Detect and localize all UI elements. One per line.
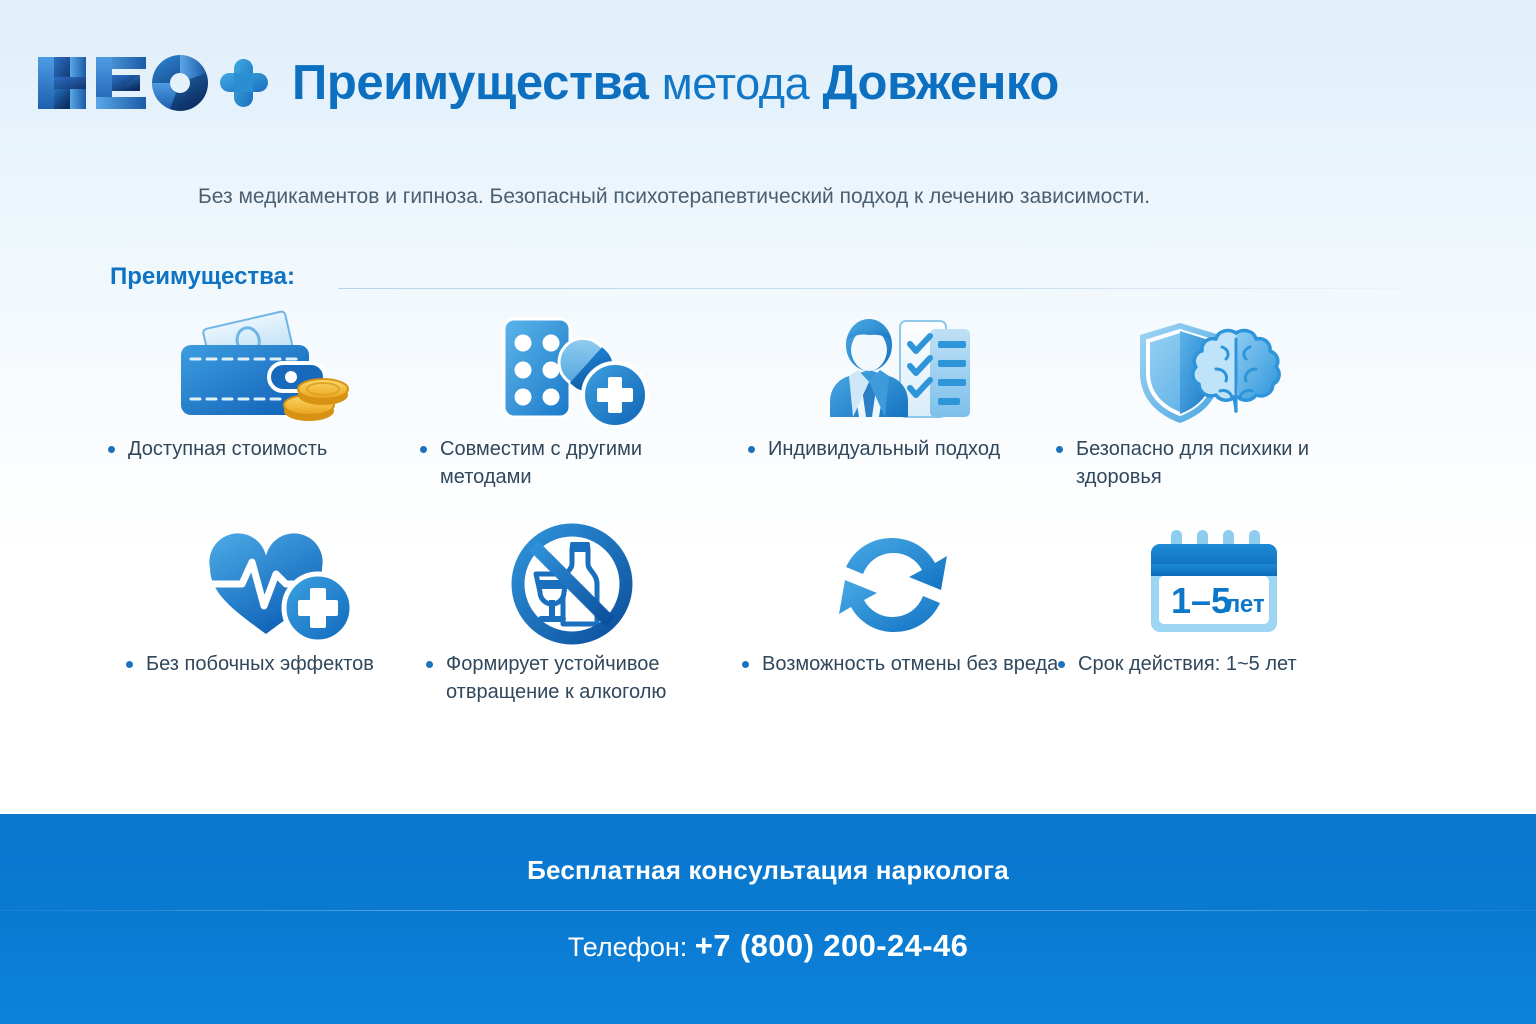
benefit-item-individual-approach: Индивидуальный подход: [740, 305, 1065, 520]
bullet-dot: [742, 661, 749, 668]
benefit-caption: Без побочных эффектов: [118, 650, 443, 678]
header: Преимущества метода Довженко: [0, 0, 1536, 150]
neo-plus-logo: [34, 47, 274, 119]
benefit-label: Возможность отмены без вреда: [762, 653, 1058, 675]
benefit-item-duration: 1–5 лет Срок действия: 1~5 лет: [1050, 520, 1375, 735]
bullet-dot: [1058, 661, 1065, 668]
phone-number[interactable]: +7 (800) 200-24-46: [695, 928, 968, 963]
benefit-caption: Доступная стоимость: [100, 435, 425, 463]
benefits-grid: Доступная стоимость: [100, 305, 1430, 735]
footer-divider: [0, 910, 1536, 911]
benefit-item-no-side-effects: Без побочных эффектов: [118, 520, 443, 735]
title-part-1: Преимущества: [292, 56, 649, 110]
section-divider: [338, 288, 1466, 289]
benefit-label: Формирует устойчивое отвращение к алкого…: [446, 653, 666, 703]
title-part-2: метода: [662, 58, 810, 109]
calendar-text: 1–5: [1171, 580, 1231, 621]
wallet-coins-icon: [100, 305, 425, 435]
refresh-cycle-icon: [734, 520, 1059, 650]
page-title: Преимущества метода Довженко: [292, 59, 1059, 108]
footer-cta-band: Бесплатная консультация нарколога Телефо…: [0, 814, 1536, 1024]
bullet-dot: [426, 661, 433, 668]
footer-title: Бесплатная консультация нарколога: [0, 855, 1536, 886]
phone-label: Телефон:: [568, 932, 688, 962]
benefit-label: Без побочных эффектов: [146, 653, 374, 675]
no-alcohol-icon: [418, 520, 743, 650]
svg-text:лет: лет: [1225, 591, 1265, 618]
bullet-dot: [126, 661, 133, 668]
benefit-caption: Совместим с другими методами: [412, 435, 737, 491]
title-part-3: Довженко: [822, 56, 1058, 110]
bullet-dot: [748, 446, 755, 453]
benefit-item-safe-for-psyche: Безопасно для психики и здоровья: [1048, 305, 1373, 520]
benefit-item-reversible: Возможность отмены без вреда: [734, 520, 1059, 735]
benefit-label: Безопасно для психики и здоровья: [1076, 438, 1309, 488]
bullet-dot: [420, 446, 427, 453]
shield-brain-icon: [1048, 305, 1373, 435]
benefit-label: Совместим с другими методами: [440, 438, 642, 488]
section-heading: Преимущества:: [110, 262, 1370, 296]
benefit-item-compatible-methods: Совместим с другими методами: [412, 305, 737, 520]
benefit-caption: Индивидуальный подход: [740, 435, 1065, 463]
bullet-dot: [108, 446, 115, 453]
bullet-dot: [1056, 446, 1063, 453]
benefit-label: Доступная стоимость: [128, 438, 327, 460]
benefit-caption: Срок действия: 1~5 лет: [1050, 650, 1375, 678]
benefit-item-affordable-cost: Доступная стоимость: [100, 305, 425, 520]
doctor-checklist-icon: [740, 305, 1065, 435]
benefit-item-alcohol-aversion: Формирует устойчивое отвращение к алкого…: [418, 520, 743, 735]
pills-capsule-cross-icon: [412, 305, 737, 435]
benefits-row-2: Без побочных эффектов: [100, 520, 1430, 735]
benefit-caption: Безопасно для психики и здоровья: [1048, 435, 1373, 491]
benefit-caption: Возможность отмены без вреда: [734, 650, 1059, 678]
heart-pulse-cross-icon: [118, 520, 443, 650]
benefit-label: Срок действия: 1~5 лет: [1078, 653, 1297, 675]
benefit-label: Индивидуальный подход: [768, 438, 1000, 460]
benefit-caption: Формирует устойчивое отвращение к алкого…: [418, 650, 743, 706]
subtitle: Без медикаментов и гипноза. Безопасный п…: [198, 183, 1378, 210]
benefits-row-1: Доступная стоимость: [100, 305, 1430, 520]
infographic-poster: Преимущества метода Довженко Без медикам…: [0, 0, 1536, 1024]
calendar-icon: 1–5 лет: [1050, 520, 1375, 650]
section-heading-label: Преимущества:: [110, 262, 313, 292]
footer-phone: Телефон: +7 (800) 200-24-46: [0, 928, 1536, 964]
